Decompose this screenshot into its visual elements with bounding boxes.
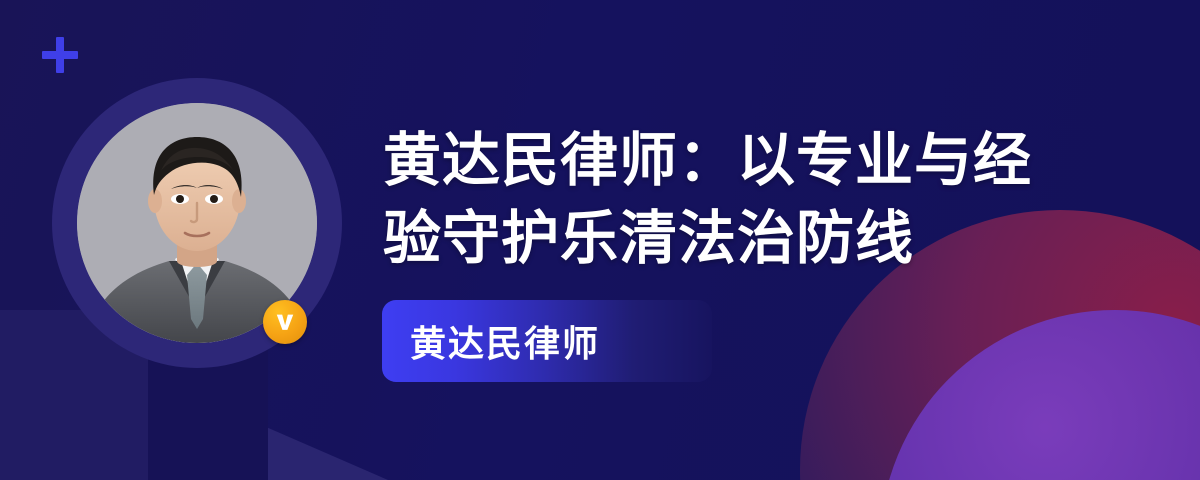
verified-v-badge-icon: [263, 300, 307, 344]
plus-icon-bar-vertical: [56, 37, 64, 73]
plus-icon: [42, 37, 78, 73]
decorative-block-dark: [148, 350, 268, 480]
page-title: 黄达民律师：以专业与经 验守护乐清法治防线: [383, 122, 1123, 278]
promo-banner: 黄达民律师：以专业与经 验守护乐清法治防线 黄达民律师: [0, 0, 1200, 480]
avatar: [52, 78, 342, 368]
lawyer-name-button[interactable]: 黄达民律师: [382, 300, 712, 382]
lawyer-name-button-label: 黄达民律师: [382, 315, 600, 367]
